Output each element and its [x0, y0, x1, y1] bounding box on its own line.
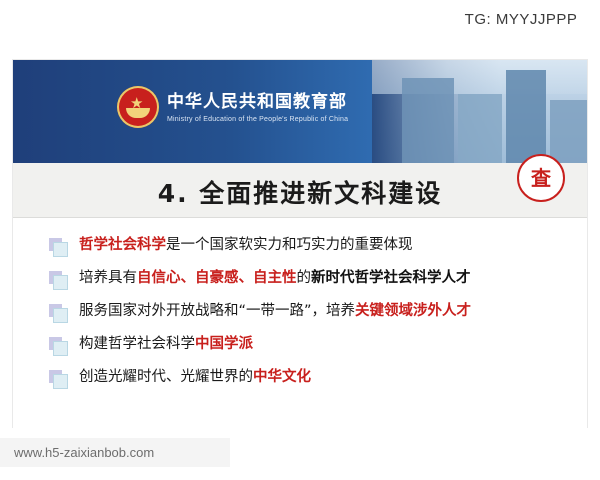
slide-header: ★ 中华人民共和国教育部 Ministry of Education of th… [13, 60, 587, 163]
bullet-text: 培养具有自信心、自豪感、自主性的新时代哲学社会科学人才 [79, 269, 471, 287]
seal-mark: 査 [531, 168, 551, 188]
bullet-text: 哲学社会科学是一个国家软实力和巧实力的重要体现 [79, 236, 413, 254]
bullet-segment: 新时代哲学社会科学人才 [311, 270, 471, 286]
list-item: 构建哲学社会科学中国学派 [49, 335, 587, 354]
building-block [506, 70, 546, 163]
list-item: 哲学社会科学是一个国家软实力和巧实力的重要体现 [49, 236, 587, 255]
bullet-segment: 构建哲学社会科学 [79, 336, 195, 352]
bullet-segment: 自信心、自豪感、自主性 [137, 270, 297, 286]
ministry-name: 中华人民共和国教育部 Ministry of Education of the … [167, 87, 348, 123]
building-photo [372, 60, 587, 163]
bullet-segment: 创造光耀时代、光耀世界的 [79, 369, 253, 385]
bullet-text: 服务国家对外开放战略和“一带一路”，培养关键领域涉外人才 [79, 302, 471, 320]
bullet-segment: 是一个国家软实力和巧实力的重要体现 [166, 237, 413, 253]
square-bullet-icon [49, 370, 66, 387]
square-bullet-icon [49, 304, 66, 321]
telegram-watermark: TG: MYYJJPPP [442, 0, 600, 38]
slide-container: ★ 中华人民共和国教育部 Ministry of Education of th… [13, 60, 587, 428]
square-bullet-icon [49, 238, 66, 255]
site-url-watermark: www.h5-zaixianbob.com [0, 438, 230, 467]
bullet-segment: 中华文化 [253, 369, 311, 385]
square-bullet-icon [49, 337, 66, 354]
bullet-segment: 哲学社会科学 [79, 237, 166, 253]
national-emblem-icon: ★ [117, 86, 159, 128]
building-block [402, 78, 454, 163]
title-band: 4. 全面推进新文科建设 査 [13, 163, 587, 218]
bullet-segment: 中国学派 [195, 336, 253, 352]
slide-title: 4. 全面推进新文科建设 [13, 174, 587, 210]
ministry-name-en: Ministry of Education of the People's Re… [167, 116, 348, 123]
ministry-name-cn: 中华人民共和国教育部 [167, 87, 348, 112]
bullet-segment: 培养具有 [79, 270, 137, 286]
square-bullet-icon [49, 271, 66, 288]
bullet-text: 构建哲学社会科学中国学派 [79, 335, 253, 353]
list-item: 服务国家对外开放战略和“一带一路”，培养关键领域涉外人才 [49, 302, 587, 321]
bullet-text: 创造光耀时代、光耀世界的中华文化 [79, 368, 311, 386]
list-item: 创造光耀时代、光耀世界的中华文化 [49, 368, 587, 387]
slide-body: 哲学社会科学是一个国家软实力和巧实力的重要体现 培养具有自信心、自豪感、自主性的… [13, 218, 587, 428]
bullet-segment: 服务国家对外开放战略和“一带一路”，培养 [79, 303, 355, 319]
list-item: 培养具有自信心、自豪感、自主性的新时代哲学社会科学人才 [49, 269, 587, 288]
building-block [550, 100, 587, 163]
bullet-segment: 的 [297, 270, 312, 286]
red-circle-seal-icon: 査 [517, 154, 565, 202]
bullet-segment: 关键领域涉外人才 [355, 303, 471, 319]
building-block [458, 94, 502, 163]
